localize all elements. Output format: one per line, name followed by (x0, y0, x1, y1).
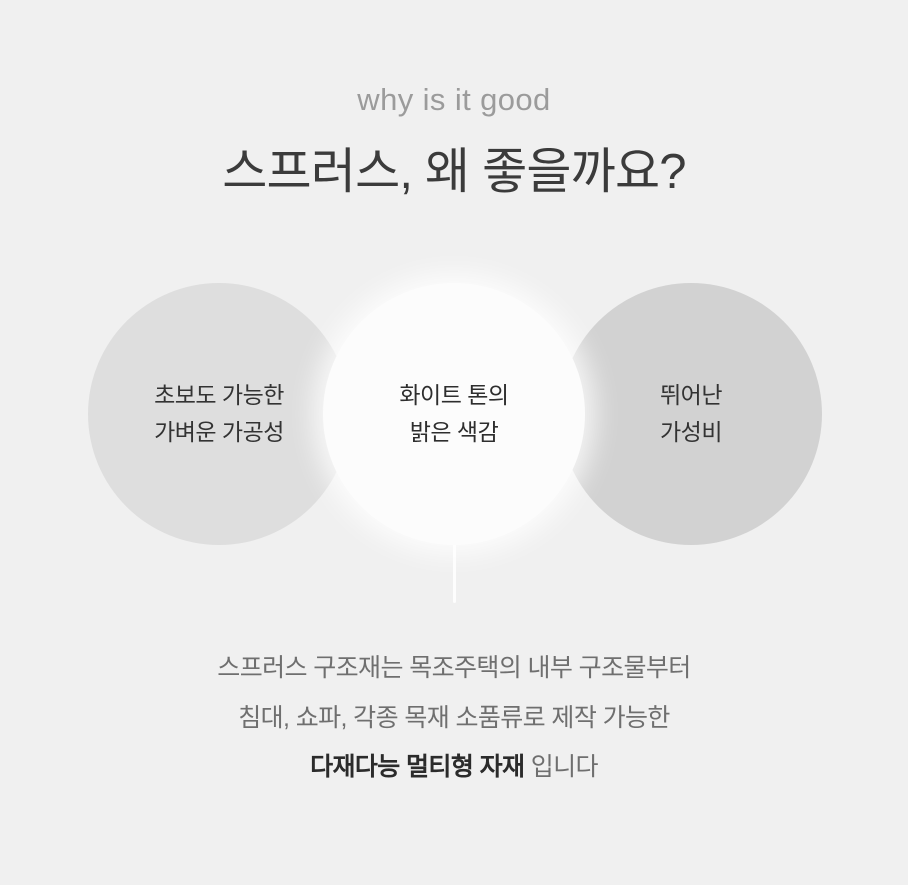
promo-page: why is it good 스프러스, 왜 좋을까요? 초보도 가능한 가벼운… (0, 0, 908, 885)
feature-circle-label: 화이트 톤의 밝은 색감 (399, 377, 508, 452)
connector-line (453, 540, 456, 603)
feature-circle-beginner-friendly: 초보도 가능한 가벼운 가공성 (88, 283, 350, 545)
header-block: why is it good 스프러스, 왜 좋을까요? (0, 84, 908, 202)
caption-block: 스프러스 구조재는 목조주택의 내부 구조물부터 침대, 쇼파, 각종 목재 소… (0, 644, 908, 793)
caption-suffix: 입니다 (524, 753, 598, 781)
feature-circle-label: 뛰어난 가성비 (660, 377, 722, 452)
caption-line-3: 다재다능 멀티형 자재 입니다 (0, 743, 908, 793)
feature-circles-group: 초보도 가능한 가벼운 가공성 뛰어난 가성비 화이트 톤의 밝은 색감 (0, 283, 908, 549)
caption-highlight: 다재다능 멀티형 자재 (310, 753, 524, 781)
caption-line-1: 스프러스 구조재는 목조주택의 내부 구조물부터 (0, 644, 908, 694)
feature-circle-white-tone: 화이트 톤의 밝은 색감 (323, 283, 585, 545)
page-title: 스프러스, 왜 좋을까요? (0, 143, 908, 202)
feature-circle-cost-effective: 뛰어난 가성비 (560, 283, 822, 545)
caption-line-2: 침대, 쇼파, 각종 목재 소품류로 제작 가능한 (0, 694, 908, 744)
feature-circle-label: 초보도 가능한 가벼운 가공성 (154, 377, 284, 452)
eyebrow-text: why is it good (0, 84, 908, 115)
